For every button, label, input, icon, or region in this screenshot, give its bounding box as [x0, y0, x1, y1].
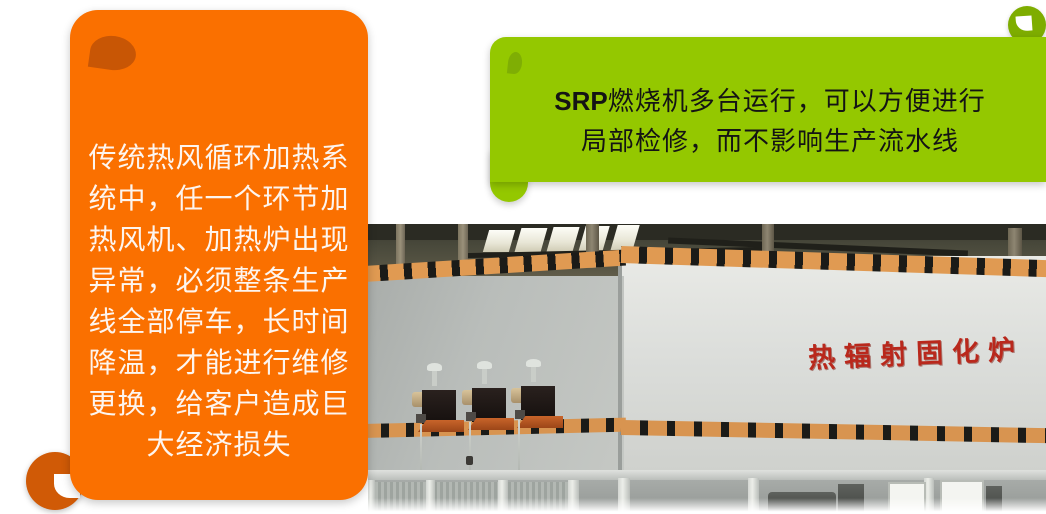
burner-unit [511, 380, 569, 424]
oven-corner-edge [618, 256, 622, 474]
burner-bolt [515, 410, 525, 419]
roof-shadow-band [368, 224, 1046, 240]
traditional-system-bubble[interactable]: 传统热风循环加热系 统中，任一个环节加 热风机、加热炉出现 异常，必须整条生产 … [70, 10, 368, 500]
quote-mark-icon [507, 51, 523, 74]
photo-bottom-fade [368, 498, 1046, 514]
oven-front-face [368, 276, 624, 476]
roof-beam [458, 224, 468, 260]
srp-acronym: SRP [554, 86, 607, 116]
burner-body [472, 388, 506, 422]
burner-bolt [416, 414, 426, 423]
burner-body [521, 386, 555, 420]
burner-cap [477, 361, 492, 369]
burner-cap [526, 359, 541, 367]
burner-cap [427, 363, 442, 371]
srp-advantage-rest: 燃烧机多台运行，可以方便进行 局部检修，而不影响生产流水线 [581, 87, 986, 156]
chain-hook [466, 456, 473, 465]
industrial-oven-photo: 热辐射固化炉 [368, 224, 1046, 514]
roof-beam [396, 224, 405, 264]
burner-body [422, 390, 456, 424]
burner-bolt [466, 412, 476, 421]
srp-advantage-text: SRP燃烧机多台运行，可以方便进行 局部检修，而不影响生产流水线 [520, 81, 1020, 162]
slide-canvas: 热辐射固化炉 [0, 0, 1046, 514]
quote-mark-icon [88, 33, 138, 73]
traditional-system-text: 传统热风循环加热系 统中，任一个环节加 热风机、加热炉出现 异常，必须整条生产 … [82, 138, 356, 466]
photo-content: 热辐射固化炉 [368, 224, 1046, 514]
srp-advantage-bubble[interactable]: SRP燃烧机多台运行，可以方便进行 局部检修，而不影响生产流水线 [490, 37, 1046, 182]
